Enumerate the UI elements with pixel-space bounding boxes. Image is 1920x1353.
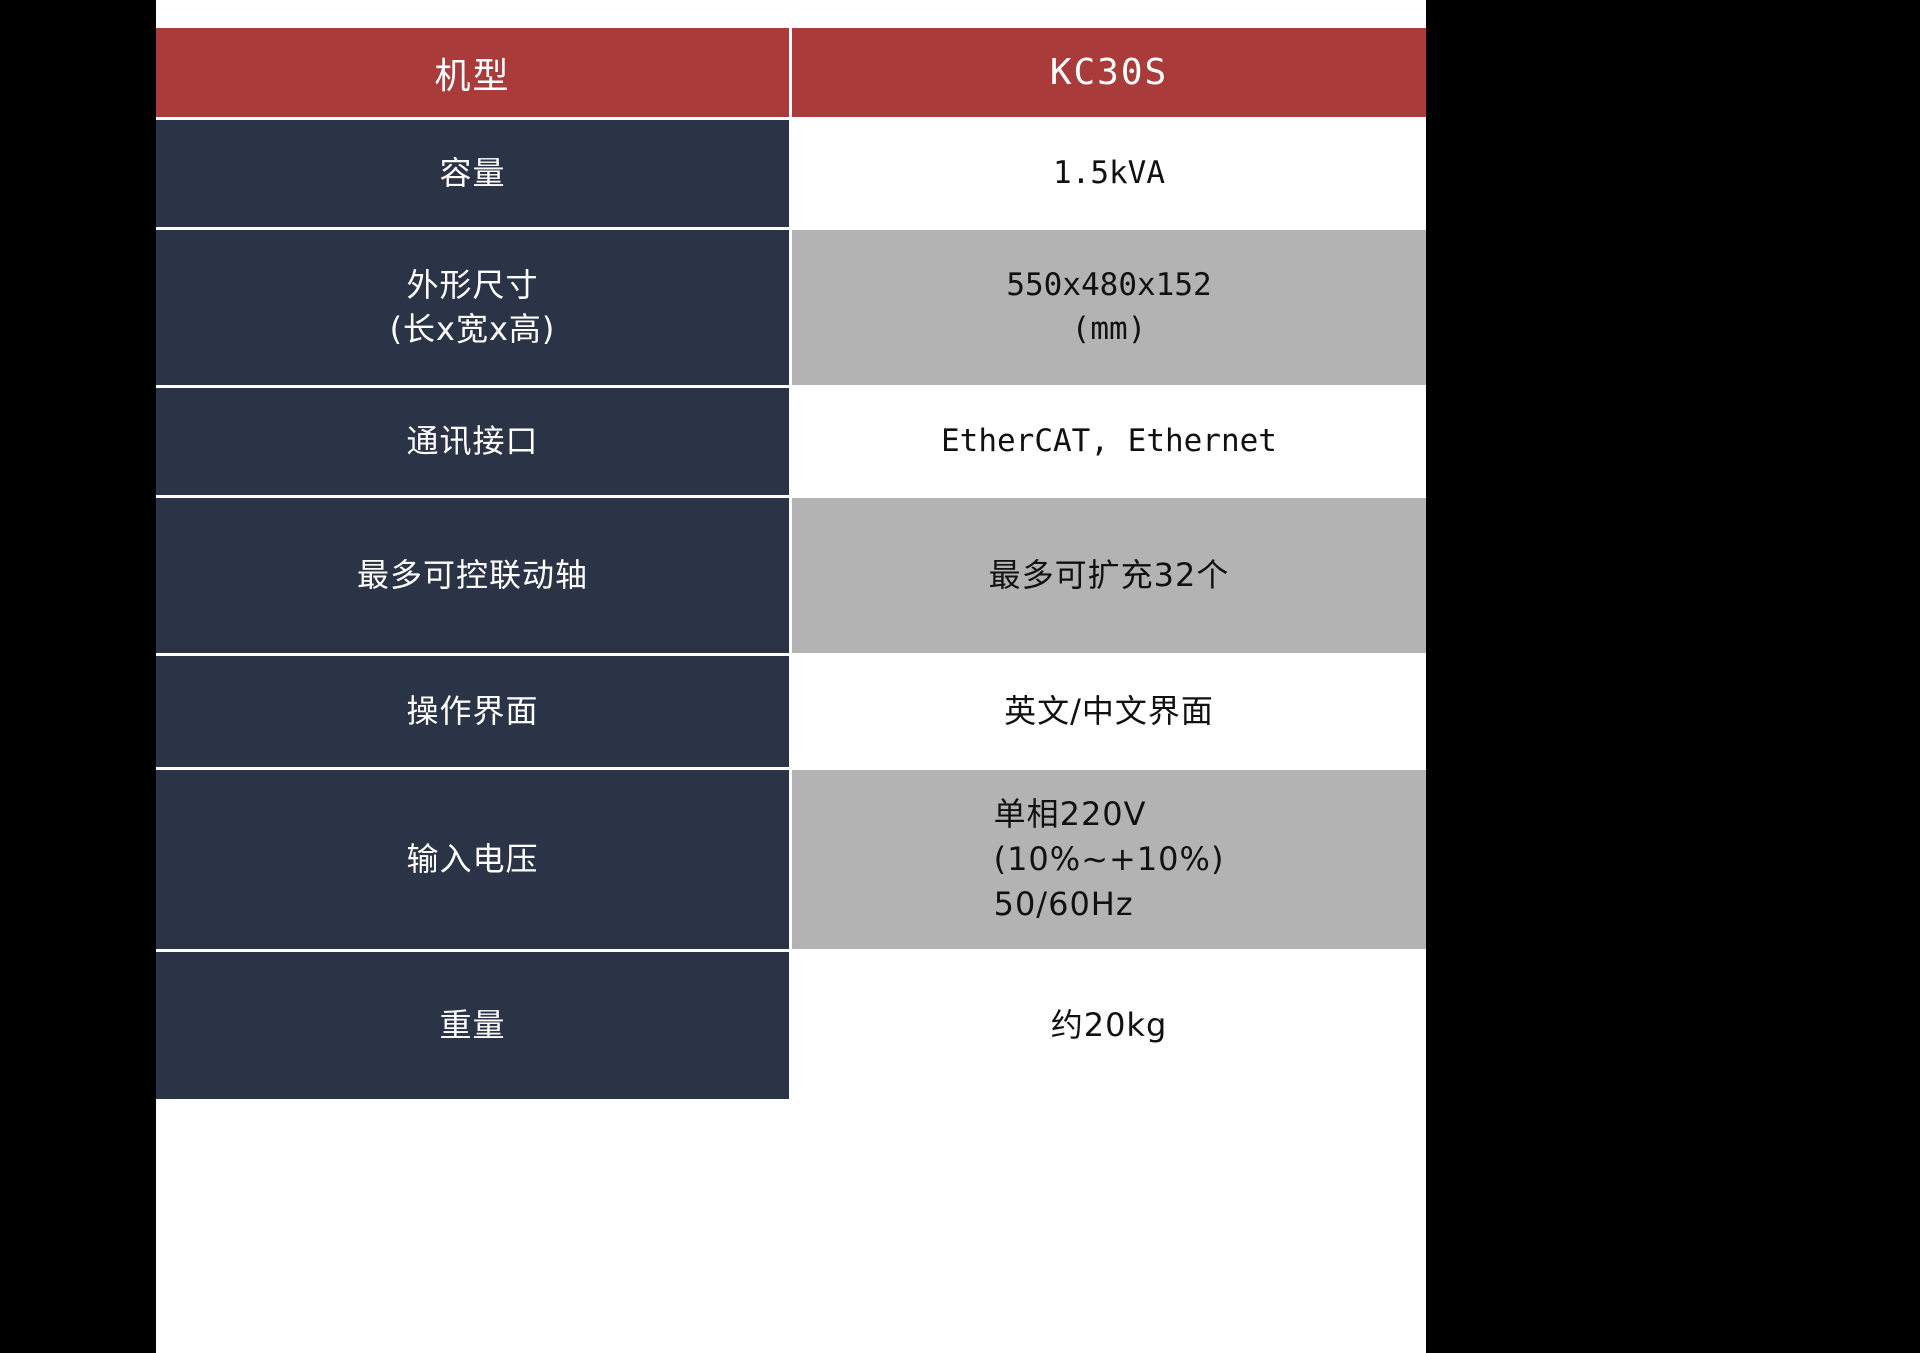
table-row: 外形尺寸 (长x宽x高) 550x480x152 (mm) [156,230,1426,388]
header-model-text: KC30S [1050,52,1168,93]
spec-value-text: 约20kg [792,1003,1426,1048]
spec-sheet-slide: 机型 KC30S 容量 1.5kVA 外形尺寸 (长x宽x高) [0,0,1920,1353]
spec-value-text: EtherCAT, Ethernet [792,420,1426,463]
spec-label-text: 容量 [156,152,789,195]
spec-label-text: 重量 [156,1004,789,1047]
table-row: 输入电压 单相220V (10%~+10%) 50/60Hz [156,770,1426,952]
table-row: 通讯接口 EtherCAT, Ethernet [156,388,1426,498]
table-header-row: 机型 KC30S [156,28,1426,120]
spec-label-dimensions: 外形尺寸 (长x宽x高) [156,230,792,388]
spec-label-input-voltage: 输入电压 [156,770,792,952]
table-row: 容量 1.5kVA [156,120,1426,230]
spec-label-max-axes: 最多可控联动轴 [156,498,792,656]
spec-value-operation-ui: 英文/中文界面 [792,656,1426,770]
spec-label-text: 最多可控联动轴 [156,554,789,597]
spec-label-capacity: 容量 [156,120,792,230]
table-row: 操作界面 英文/中文界面 [156,656,1426,770]
spec-label-operation-ui: 操作界面 [156,656,792,770]
spec-label-text: 通讯接口 [156,420,789,463]
spec-value-comm-interface: EtherCAT, Ethernet [792,388,1426,498]
spec-value-capacity: 1.5kVA [792,120,1426,230]
spec-value-text: 最多可扩充32个 [792,553,1426,598]
spec-value-text: 英文/中文界面 [792,689,1426,734]
spec-label-weight: 重量 [156,952,792,1102]
header-cell-model: KC30S [792,28,1426,120]
spec-value-dimensions: 550x480x152 (mm) [792,230,1426,388]
spec-value-text: 单相220V (10%~+10%) 50/60Hz [994,792,1225,926]
table-row: 重量 约20kg [156,952,1426,1102]
spec-label-comm-interface: 通讯接口 [156,388,792,498]
product-spec-table: 机型 KC30S 容量 1.5kVA 外形尺寸 (长x宽x高) [156,28,1426,1102]
header-label-text: 机型 [434,56,510,97]
spec-value-weight: 约20kg [792,952,1426,1102]
spec-value-max-axes: 最多可扩充32个 [792,498,1426,656]
spec-label-text: 输入电压 [156,838,789,881]
header-cell-label: 机型 [156,28,792,120]
spec-label-text: 外形尺寸 (长x宽x高) [156,264,789,350]
spec-label-text: 操作界面 [156,690,789,733]
spec-value-text: 1.5kVA [792,152,1426,195]
table-row: 最多可控联动轴 最多可扩充32个 [156,498,1426,656]
spec-value-text: 550x480x152 (mm) [792,264,1426,351]
spec-value-input-voltage: 单相220V (10%~+10%) 50/60Hz [792,770,1426,952]
